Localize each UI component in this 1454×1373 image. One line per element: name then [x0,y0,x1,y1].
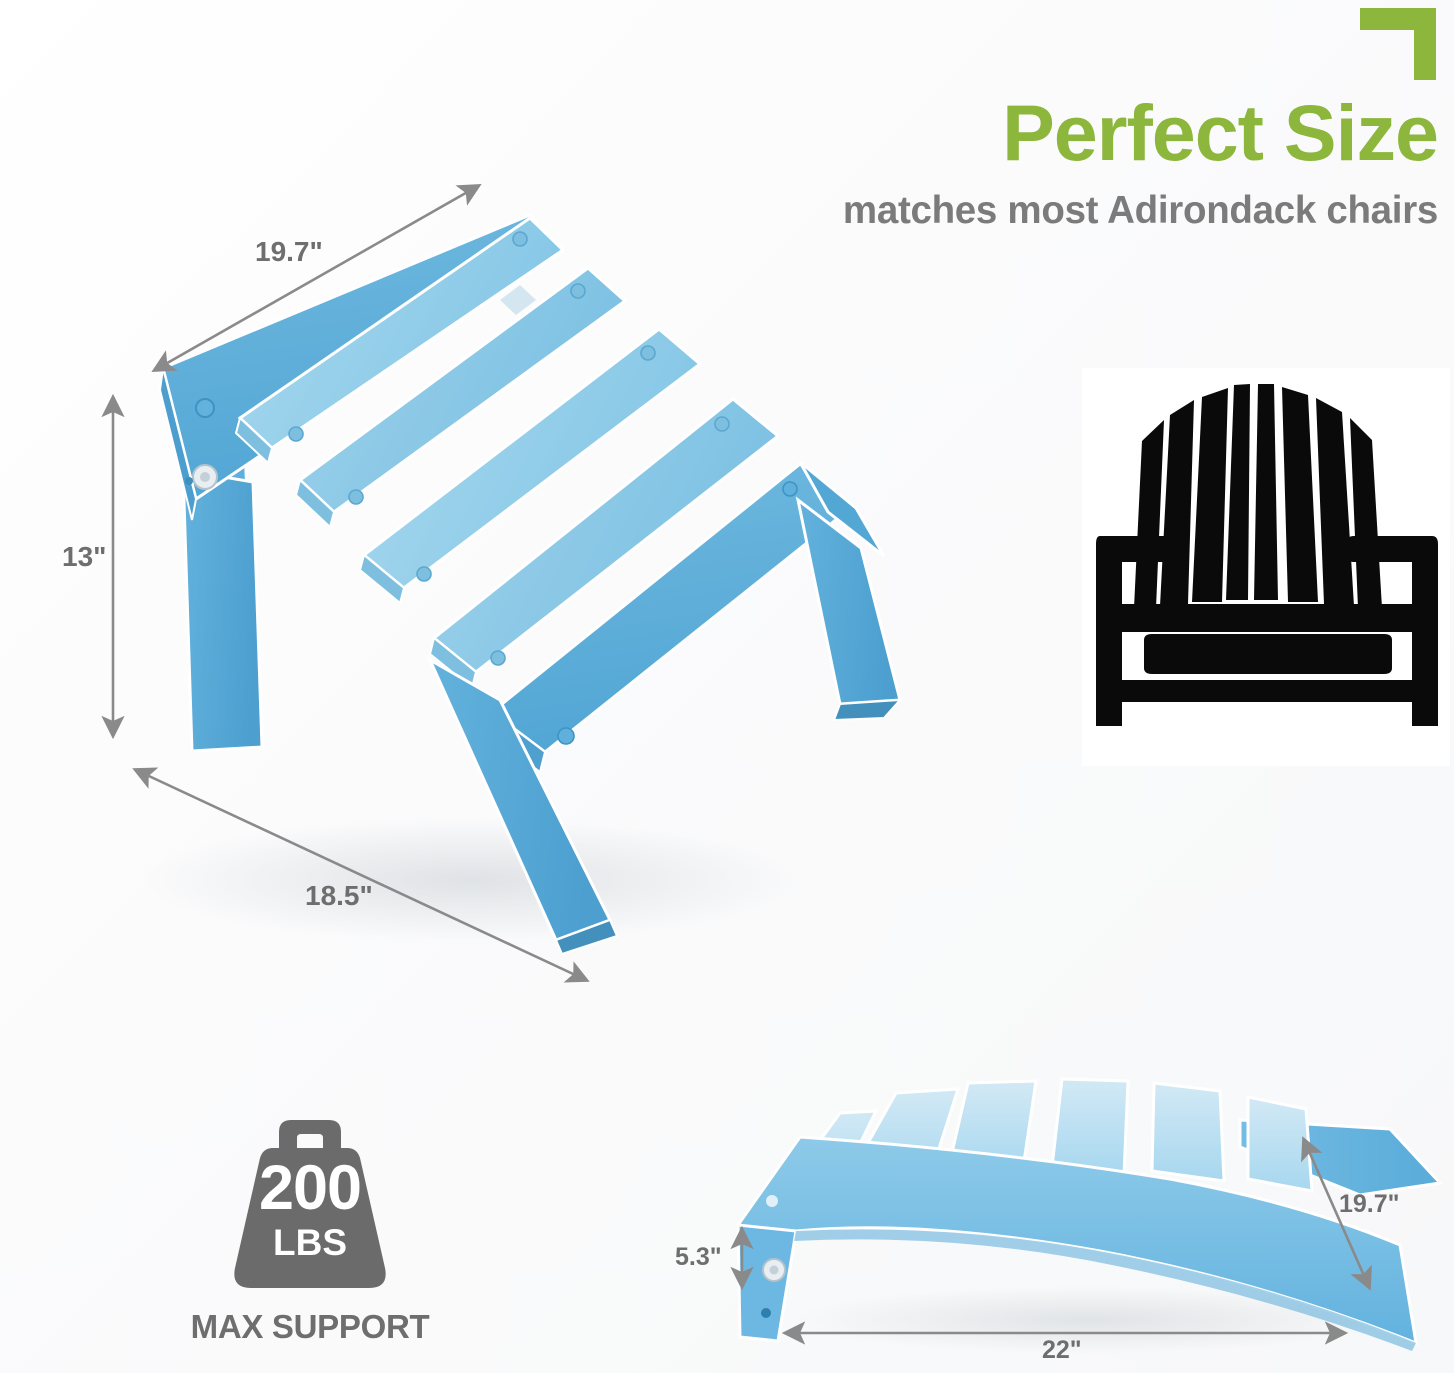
dimension-label-width-top: 19.7" [255,236,323,268]
weight-value: 200 [207,1152,413,1224]
corner-bracket-vertical-bar [1414,8,1436,80]
product-hero-image [0,0,960,1030]
max-support-badge: 200 LBS MAX SUPPORT [150,1118,470,1346]
folded-product-image [700,1075,1454,1373]
weight-kettlebell-icon: 200 LBS [207,1118,413,1296]
weight-unit: LBS [207,1222,413,1264]
dimension-label-depth: 18.5" [305,880,373,912]
dimension-label-folded-depth: 19.7" [1339,1190,1400,1219]
dimension-label-height: 13" [62,541,106,573]
max-support-caption: MAX SUPPORT [150,1308,470,1346]
dimension-label-folded-width: 22" [1042,1336,1082,1365]
adirondack-chair-icon [1082,368,1450,766]
infographic-root: Perfect Size matches most Adirondack cha… [0,0,1454,1373]
dimension-label-folded-height: 5.3" [675,1243,722,1272]
corner-bracket-icon [1360,8,1436,80]
